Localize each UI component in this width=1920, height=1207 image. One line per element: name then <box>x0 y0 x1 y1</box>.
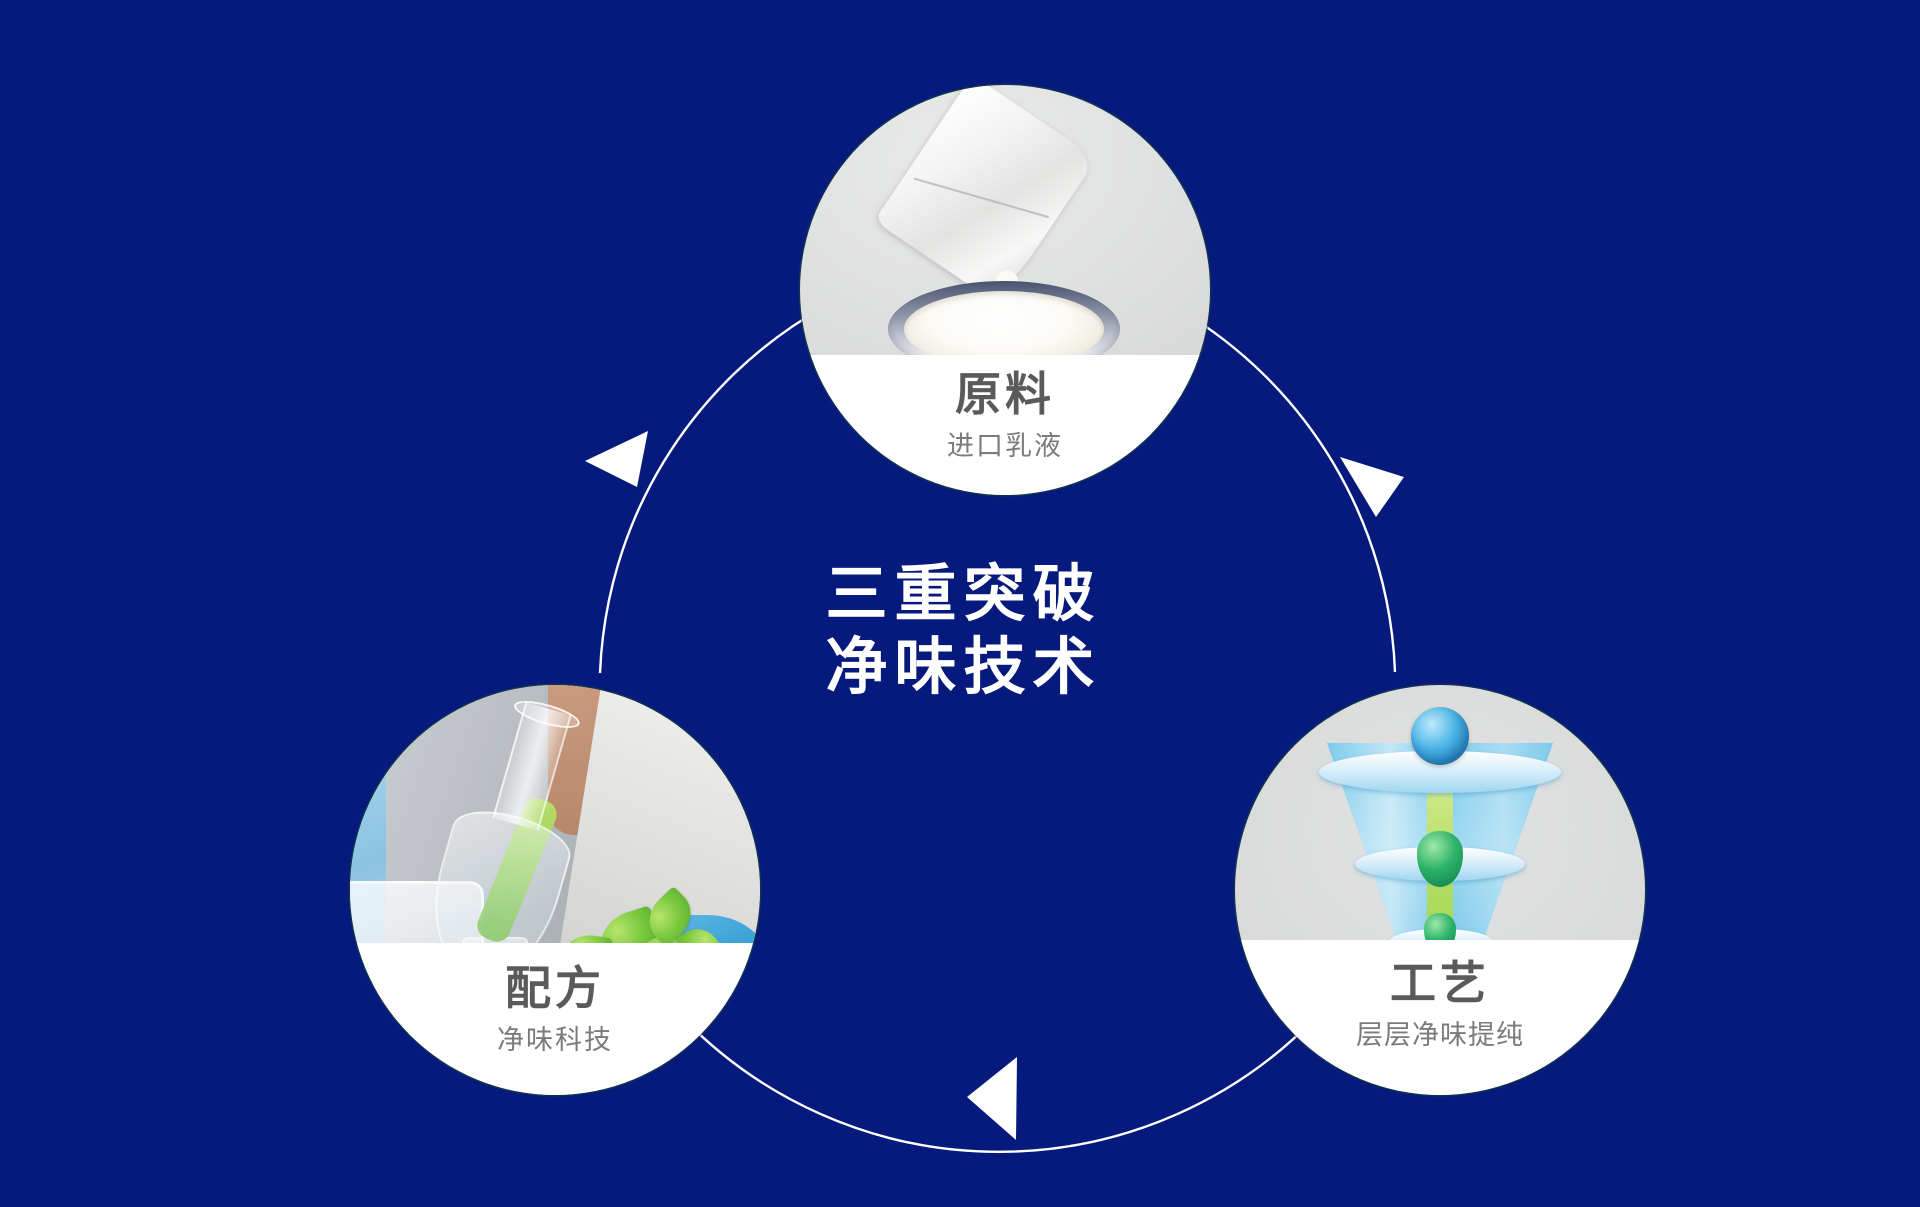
node-process[interactable]: 工艺 层层净味提纯 <box>1235 685 1645 1095</box>
process-caption: 工艺 层层净味提纯 <box>1235 940 1645 1095</box>
ring-arc-bottom <box>683 1018 1315 1152</box>
raw-material-caption: 原料 进口乳液 <box>800 355 1210 495</box>
formula-subtitle: 净味科技 <box>497 1027 613 1054</box>
headline-line-1: 三重突破 <box>0 558 1920 631</box>
raw-material-subtitle: 进口乳液 <box>947 433 1063 460</box>
ring-arrow-left <box>585 431 648 487</box>
flask-neck <box>492 702 571 831</box>
ring-arrow-right <box>1340 457 1404 517</box>
center-headline: 三重突破 净味技术 <box>0 558 1920 704</box>
node-raw-material[interactable]: 原料 进口乳液 <box>800 85 1210 495</box>
blue-droplet-icon <box>1411 707 1469 765</box>
raw-material-title: 原料 <box>955 371 1055 417</box>
formula-caption: 配方 净味科技 <box>350 943 760 1095</box>
node-formula[interactable]: 配方 净味科技 <box>350 685 760 1095</box>
formula-title: 配方 <box>505 965 605 1011</box>
process-title: 工艺 <box>1390 960 1490 1006</box>
trowel-blade <box>874 85 1097 305</box>
process-subtitle: 层层净味提纯 <box>1356 1022 1524 1049</box>
ring-arrow-bottom <box>967 1057 1017 1140</box>
infographic-canvas: 原料 进口乳液 配方 <box>0 0 1920 1207</box>
headline-line-2: 净味技术 <box>0 631 1920 704</box>
